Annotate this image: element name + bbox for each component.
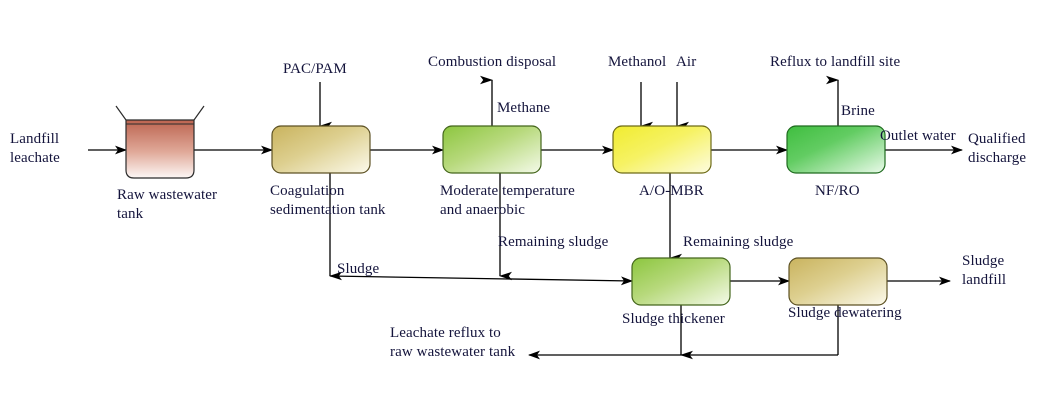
label-combustion-disposal: Combustion disposal [428,53,556,72]
raw-tank-body [126,120,194,178]
label-brine: Brine [841,102,875,121]
raw-tank-right-wing [194,106,204,120]
label-reflux-to-landfill-site: Reflux to landfill site [770,53,900,72]
label-landfill-leachate-line1: Landfill [10,130,59,149]
label-anaerobic-line2: and anaerobic [440,201,525,220]
label-leachate-reflux-line2: raw wastewater tank [390,343,515,362]
label-coagulation-line2: sedimentation tank [270,201,386,220]
label-remaining-sludge-right: Remaining sludge [683,233,793,252]
label-sludge-dewatering: Sludge dewatering [788,304,902,323]
unit-moderate-temperature-anaerobic[interactable] [443,126,541,173]
label-methane: Methane [497,99,550,118]
unit-raw-wastewater-tank[interactable] [116,106,204,178]
label-coagulation-line1: Coagulation [270,182,344,201]
unit-nf-ro[interactable] [787,126,885,173]
process-flow-diagram: Landfill leachate Raw wastewater tank PA… [0,0,1048,417]
label-qualified-discharge-line2: discharge [968,149,1026,168]
label-anaerobic-line1: Moderate temperature [440,182,575,201]
raw-tank-left-wing [116,106,126,120]
label-ao-mbr: A/O-MBR [639,182,704,201]
label-remaining-sludge-middle: Remaining sludge [498,233,608,252]
label-qualified-discharge-line1: Qualified [968,130,1026,149]
label-outlet-water: Outlet water [880,127,956,146]
label-methanol: Methanol [608,53,666,72]
label-sludge-landfill-line2: landfill [962,271,1006,290]
unit-sludge-dewatering[interactable] [789,258,887,305]
label-air: Air [676,53,696,72]
label-sludge-thickener: Sludge thickener [622,310,725,329]
unit-coagulation-sedimentation-tank[interactable] [272,126,370,173]
label-raw-tank-line1: Raw wastewater [117,186,217,205]
label-leachate-reflux-line1: Leachate reflux to [390,324,501,343]
unit-sludge-thickener[interactable] [632,258,730,305]
label-landfill-leachate-line2: leachate [10,149,60,168]
label-sludge-landfill-line1: Sludge [962,252,1004,271]
label-raw-tank-line2: tank [117,205,143,224]
label-sludge: Sludge [337,260,379,279]
unit-ao-mbr[interactable] [613,126,711,173]
label-nf-ro: NF/RO [815,182,860,201]
label-pac-pam: PAC/PAM [283,60,347,79]
